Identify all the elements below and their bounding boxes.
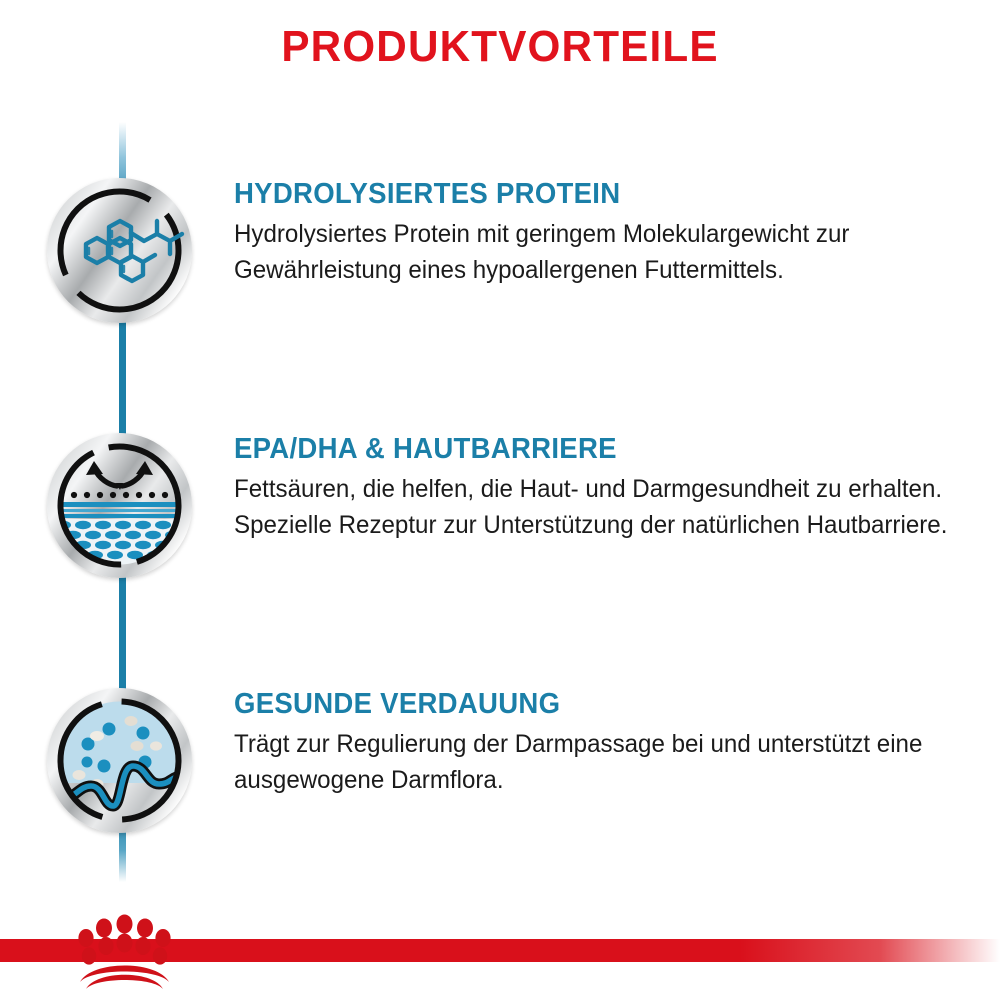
benefit-heading: HYDROLYSIERTES PROTEIN	[234, 178, 942, 210]
benefit-heading: GESUNDE VERDAUUNG	[234, 688, 942, 720]
royal-canin-crown-logo	[62, 912, 187, 990]
benefit-body: Trägt zur Regulierung der Darmpassage be…	[234, 726, 953, 798]
product-benefits-page: PRODUKTVORTEILE	[0, 0, 1000, 1000]
benefit-body: Hydrolysiertes Protein mit geringem Mole…	[234, 216, 953, 288]
benefit-text-block: EPA/DHA & HAUTBARRIERE Fettsäuren, die h…	[234, 433, 979, 543]
digestion-wave-icon	[47, 688, 192, 833]
molecule-hexagons-icon	[47, 178, 192, 323]
benefit-item-hydrolyzed-protein: HYDROLYSIERTES PROTEIN Hydrolysiertes Pr…	[0, 178, 1000, 348]
benefit-item-epa-dha-skin-barrier: EPA/DHA & HAUTBARRIERE Fettsäuren, die h…	[0, 433, 1000, 603]
page-title: PRODUKTVORTEILE	[20, 22, 980, 72]
benefit-item-healthy-digestion: GESUNDE VERDAUUNG Trägt zur Regulierung …	[0, 688, 1000, 858]
benefit-text-block: HYDROLYSIERTES PROTEIN Hydrolysiertes Pr…	[234, 178, 979, 288]
benefit-text-block: GESUNDE VERDAUUNG Trägt zur Regulierung …	[234, 688, 979, 798]
skin-barrier-arrows-icon	[47, 433, 192, 578]
benefit-body: Fettsäuren, die helfen, die Haut- und Da…	[234, 471, 953, 543]
benefit-heading: EPA/DHA & HAUTBARRIERE	[234, 433, 942, 465]
